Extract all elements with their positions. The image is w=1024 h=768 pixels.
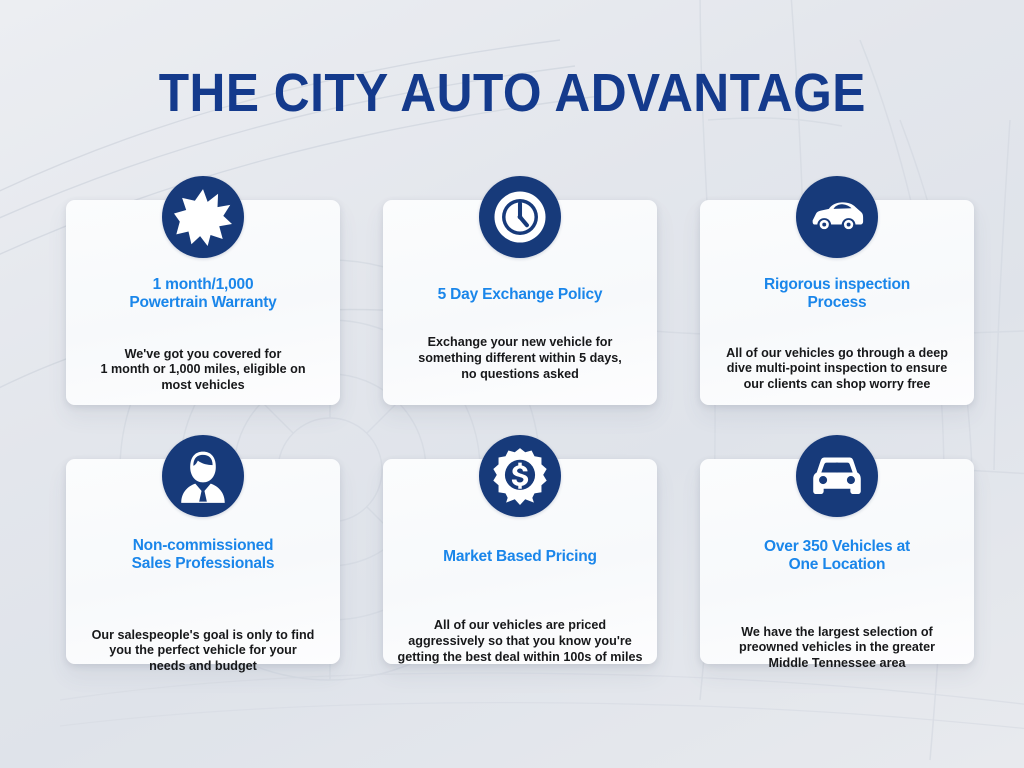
- card-body-line: Exchange your new vehicle for: [428, 335, 613, 349]
- card-body-line: We have the largest selection of: [741, 625, 933, 639]
- card-heading-line: Over 350 Vehicles at: [764, 538, 910, 555]
- businessperson-icon: [162, 435, 244, 517]
- card-body-line: our clients can shop worry free: [744, 377, 931, 391]
- card-heading-line: Sales Professionals: [132, 555, 275, 572]
- card-body-line: something different within 5 days,: [418, 351, 622, 365]
- card-heading-line: 5 Day Exchange Policy: [438, 286, 603, 303]
- card-heading-line: Rigorous inspection: [764, 276, 910, 293]
- advantage-card: 1 month/1,000Powertrain Warranty We've g…: [66, 200, 340, 405]
- clock-icon: [479, 176, 561, 258]
- card-heading: Non-commissionedSales Professionals: [66, 537, 340, 574]
- card-heading-line: 1 month/1,000: [153, 276, 254, 293]
- page-title-container: THE CITY AUTO ADVANTAGE: [0, 66, 1024, 120]
- card-body-line: you the perfect vehicle for your: [109, 643, 297, 657]
- advantage-card: Rigorous inspectionProcess All of our ve…: [700, 200, 974, 405]
- card-body: Exchange your new vehicle forsomething d…: [383, 335, 657, 382]
- card-body-line: All of our vehicles go through a deep: [726, 346, 948, 360]
- page-title: THE CITY AUTO ADVANTAGE: [158, 66, 865, 120]
- starburst-icon: [162, 176, 244, 258]
- card-heading: 1 month/1,000Powertrain Warranty: [66, 276, 340, 313]
- advantage-card-grid: 1 month/1,000Powertrain Warranty We've g…: [66, 200, 974, 664]
- card-heading-line: Non-commissioned: [133, 537, 274, 554]
- card-body-line: no questions asked: [461, 367, 579, 381]
- card-heading: Rigorous inspectionProcess: [700, 276, 974, 313]
- car-front-icon: [796, 435, 878, 517]
- advantage-card: Over 350 Vehicles atOne Location We have…: [700, 459, 974, 664]
- card-heading: Over 350 Vehicles atOne Location: [700, 538, 974, 575]
- card-body-line: most vehicles: [161, 378, 244, 392]
- infographic-canvas: THE CITY AUTO ADVANTAGE 1 month/1,000Pow…: [0, 0, 1024, 768]
- card-body: Our salespeople's goal is only to findyo…: [66, 628, 340, 675]
- card-body-line: getting the best deal within 100s of mil…: [398, 650, 643, 664]
- card-heading-line: Market Based Pricing: [443, 548, 597, 565]
- card-body: We have the largest selection ofpreowned…: [700, 625, 974, 672]
- card-body-line: Our salespeople's goal is only to find: [92, 628, 315, 642]
- card-heading: 5 Day Exchange Policy: [383, 286, 657, 304]
- car-side-icon: [796, 176, 878, 258]
- card-body: All of our vehicles are pricedaggressive…: [383, 618, 657, 665]
- card-body-line: dive multi-point inspection to ensure: [727, 361, 947, 375]
- advantage-card: Non-commissionedSales Professionals Our …: [66, 459, 340, 664]
- card-heading-line: Powertrain Warranty: [129, 294, 276, 311]
- card-body-line: preowned vehicles in the greater: [739, 640, 935, 654]
- card-heading-line: One Location: [789, 556, 886, 573]
- card-body-line: All of our vehicles are priced: [434, 618, 606, 632]
- card-heading-line: Process: [808, 294, 867, 311]
- card-heading: Market Based Pricing: [383, 548, 657, 566]
- advantage-card: Market Based Pricing All of our vehicles…: [383, 459, 657, 664]
- card-body: All of our vehicles go through a deepdiv…: [700, 346, 974, 393]
- card-body-line: aggressively so that you know you're: [408, 634, 631, 648]
- award-dollar-icon: [479, 435, 561, 517]
- card-body: We've got you covered for1 month or 1,00…: [66, 347, 340, 394]
- card-body-line: We've got you covered for: [125, 347, 282, 361]
- card-body-line: needs and budget: [149, 659, 257, 673]
- card-body-line: 1 month or 1,000 miles, eligible on: [100, 362, 305, 376]
- advantage-card: 5 Day Exchange Policy Exchange your new …: [383, 200, 657, 405]
- card-body-line: Middle Tennessee area: [769, 656, 906, 670]
